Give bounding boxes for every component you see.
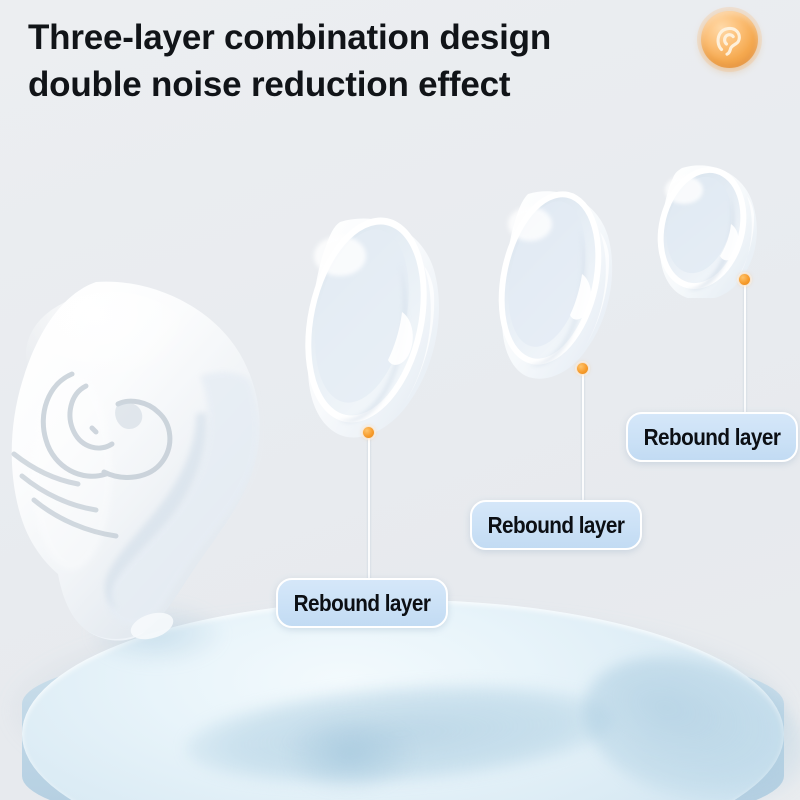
connector-dot-2 xyxy=(577,363,588,374)
ear-tip-cup-small xyxy=(648,158,770,298)
headline-block: Three-layer combination design double no… xyxy=(28,14,668,108)
product-shadow-hook xyxy=(290,718,410,790)
ear-tip-cup-large xyxy=(296,208,456,448)
connector-line-2 xyxy=(582,374,584,502)
callout-rebound-layer-2: Rebound layer xyxy=(470,500,642,550)
earbud-main xyxy=(0,262,310,662)
ear-tip-cup-medium xyxy=(492,182,628,388)
callout-rebound-layer-1: Rebound layer xyxy=(276,578,448,628)
ear-icon xyxy=(701,11,758,68)
ear-badge xyxy=(701,11,758,68)
connector-line-1 xyxy=(368,438,370,580)
callout-label: Rebound layer xyxy=(644,426,781,449)
headline-line-2: double noise reduction effect xyxy=(28,61,668,108)
connector-dot-1 xyxy=(363,427,374,438)
callout-label: Rebound layer xyxy=(294,592,431,615)
headline-line-1: Three-layer combination design xyxy=(28,14,668,61)
callout-label: Rebound layer xyxy=(488,514,625,537)
connector-dot-3 xyxy=(739,274,750,285)
callout-rebound-layer-3: Rebound layer xyxy=(626,412,798,462)
product-banner: Three-layer combination design double no… xyxy=(0,0,800,800)
connector-line-3 xyxy=(744,285,746,414)
